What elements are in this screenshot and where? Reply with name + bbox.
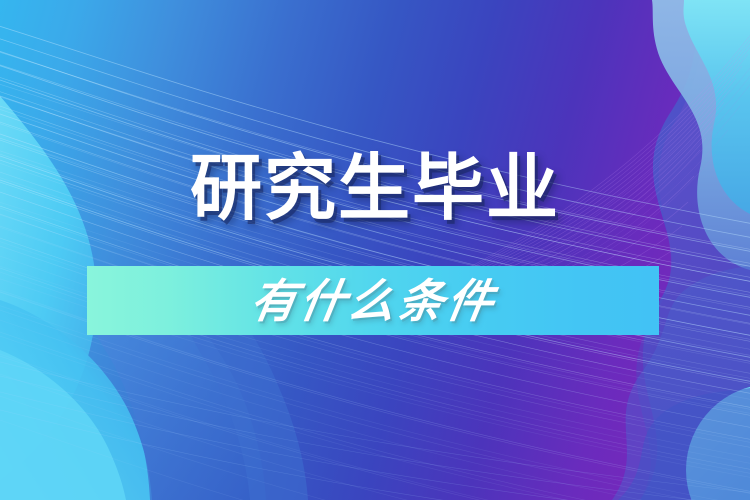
promo-banner: 研究生毕业 有什么条件 — [0, 0, 750, 500]
background-decoration — [0, 0, 750, 500]
subtitle-bar — [87, 266, 659, 335]
